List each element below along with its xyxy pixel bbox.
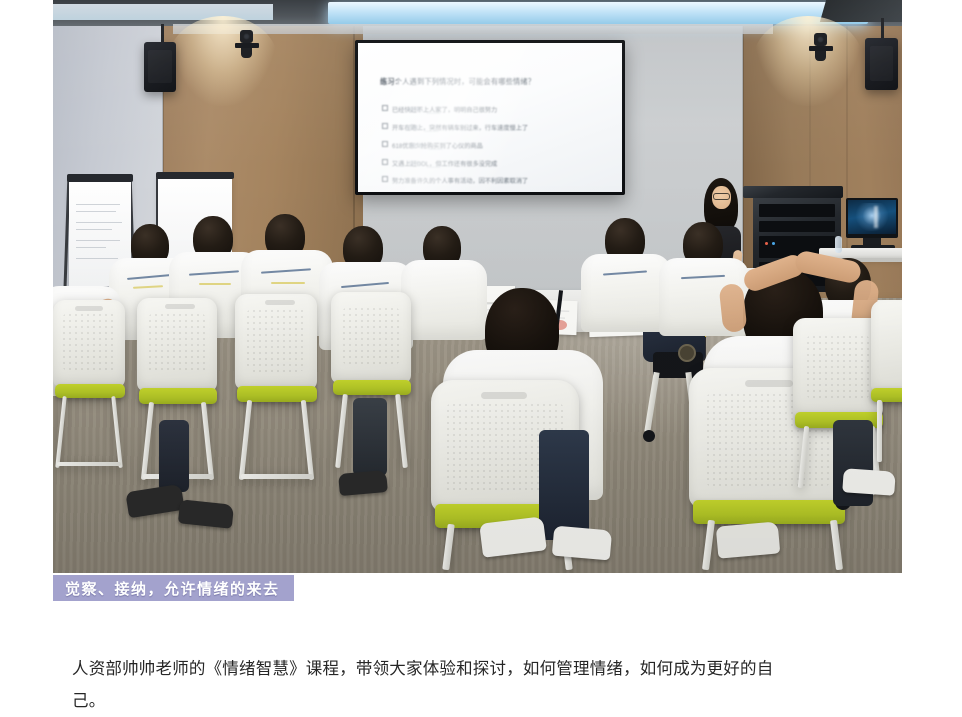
slide-item-tail: 情绪：____ xyxy=(410,141,442,150)
av-rack-top xyxy=(743,186,843,198)
slide-item: 618优惠少抢购买到了心仪的商品情绪：____ xyxy=(382,141,392,149)
ceiling-spot-glow xyxy=(168,16,278,106)
speaker-mount-rod xyxy=(161,24,164,42)
checkbox-icon xyxy=(382,123,388,129)
slide-item-tail: 情绪：____ xyxy=(406,123,438,132)
shoe xyxy=(338,470,388,496)
presenter-glasses xyxy=(713,193,730,200)
ceiling-spot-glow xyxy=(753,16,863,106)
camera-lens-left xyxy=(243,33,250,40)
slide-item-tail: 情绪：____ xyxy=(408,159,440,168)
equipment-dial xyxy=(678,344,696,362)
easel-clip xyxy=(67,174,133,182)
article-page: 练习：当一个人遇到下列情况时，可能会有哪些情绪？ 已经快赶不上人家了，明明自己很… xyxy=(0,0,962,712)
participant-shirt xyxy=(401,260,487,340)
easel-clip xyxy=(156,172,234,179)
slide-item: 开车在路上，突然有辆车别过来，行车速度慢上了情绪：____ xyxy=(382,123,392,131)
slide-item-tail: 情绪：____ xyxy=(408,105,440,114)
camera-body-right xyxy=(815,51,826,61)
slide-item: 又遇上赶DDL，但工作还有很多没完成情绪：____ xyxy=(382,159,392,167)
participant-leg xyxy=(159,420,189,492)
shoe xyxy=(716,521,781,558)
participant-shirt xyxy=(581,254,671,332)
slide-item: 已经快赶不上人家了，明明自己很努力情绪：____ xyxy=(382,105,392,113)
caster-wheel xyxy=(643,430,655,442)
checkbox-icon xyxy=(382,141,388,147)
participant-leg xyxy=(353,398,387,476)
speaker-right xyxy=(865,38,898,90)
ceiling-vent xyxy=(820,0,902,22)
participant-leg xyxy=(539,430,589,540)
projection-screen: 练习：当一个人遇到下列情况时，可能会有哪些情绪？ 已经快赶不上人家了，明明自己很… xyxy=(358,43,622,192)
shoe xyxy=(552,526,612,561)
water-bottle-clear xyxy=(835,236,842,253)
checkbox-icon xyxy=(382,159,388,165)
slide-title: 练习：当一个人遇到下列情况时，可能会有哪些情绪？ xyxy=(380,77,605,86)
checkbox-icon xyxy=(382,105,388,111)
speaker-left xyxy=(144,42,176,92)
camera-lens-right xyxy=(817,36,824,43)
caption-banner: 觉察、接纳，允许情绪的来去 xyxy=(53,575,294,601)
slide-item-text: 努力准备许久的个人事有活动，因不利因素取消了 xyxy=(392,176,528,185)
slide-item: 努力准备许久的个人事有活动，因不利因素取消了 xyxy=(382,176,392,184)
slide-title-text: 当一个人遇到下列情况时，可能会有哪些情绪？ xyxy=(380,77,535,87)
camera-body-left xyxy=(241,48,252,58)
training-session-photo: 练习：当一个人遇到下列情况时，可能会有哪些情绪？ 已经快赶不上人家了，明明自己很… xyxy=(53,0,902,573)
article-paragraph: 人资部帅帅老师的《情绪智慧》课程，带领大家体验和探讨，如何管理情绪，如何成为更好… xyxy=(72,653,792,717)
caption-banner-text: 觉察、接纳，允许情绪的来去 xyxy=(65,578,280,599)
speaker-mount-rod xyxy=(881,18,884,38)
monitor-stand xyxy=(863,238,881,245)
av-monitor xyxy=(846,198,898,238)
shoe xyxy=(842,468,896,496)
checkbox-icon xyxy=(382,176,388,182)
